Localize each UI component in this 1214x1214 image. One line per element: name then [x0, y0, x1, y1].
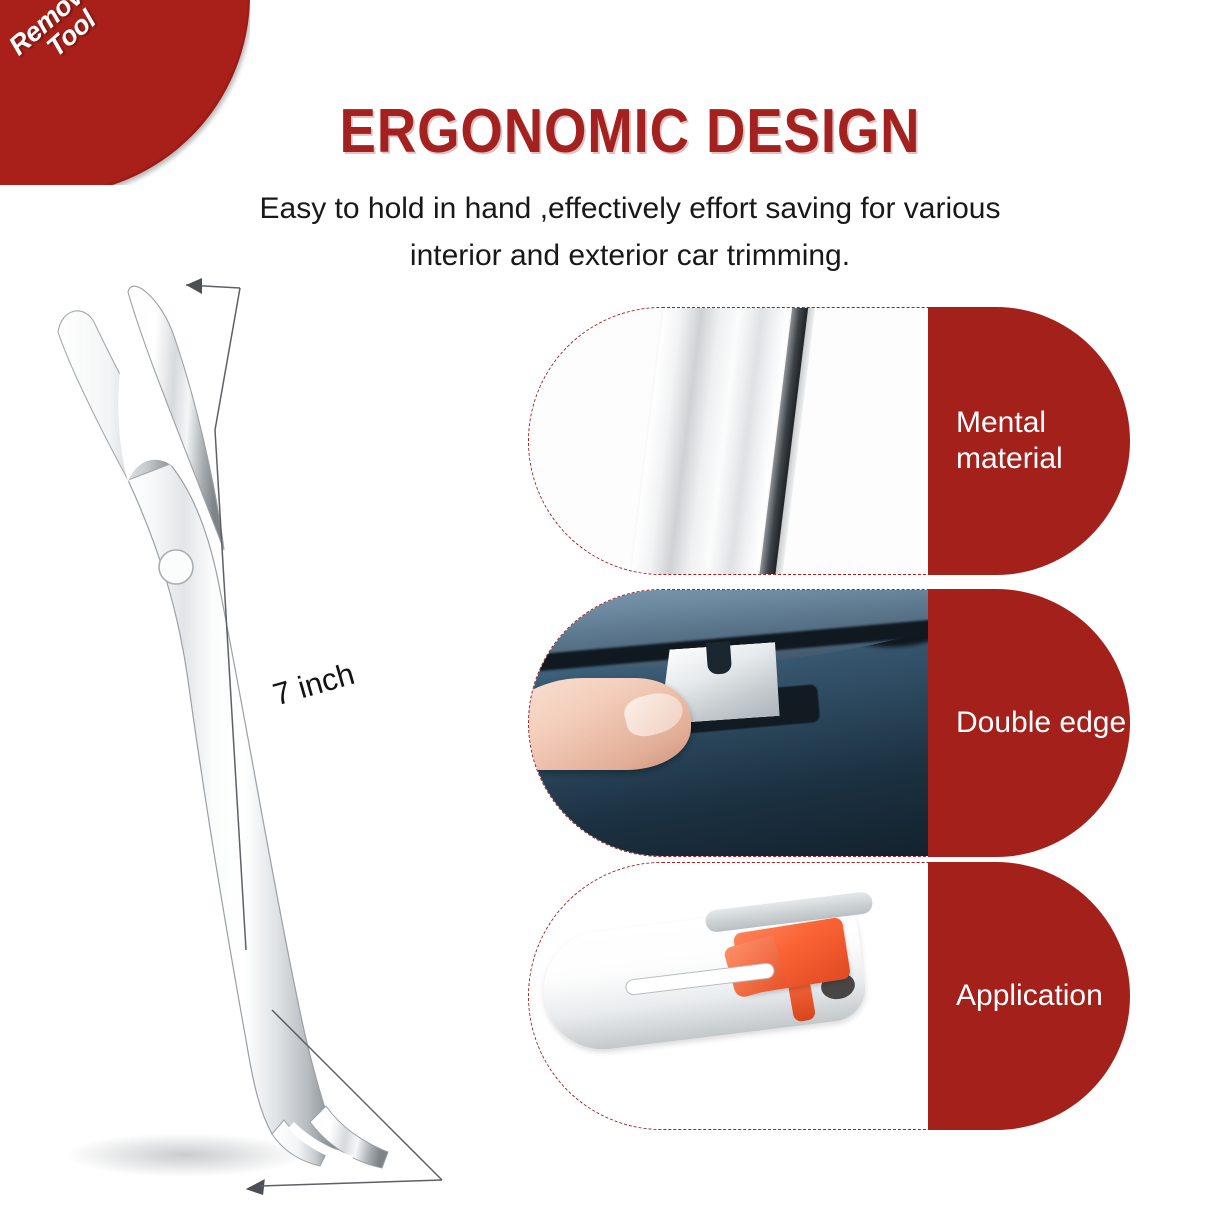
page-title: ERGONOMIC DESIGN	[234, 96, 1026, 167]
infographic-canvas: Removal Tool ERGONOMIC DESIGN Easy to ho…	[0, 0, 1214, 1214]
ribbon-line-2: Tool	[7, 0, 137, 93]
feature-pill-double-edge: Double edge	[928, 589, 1130, 857]
ribbon-shape-shadow	[0, 0, 250, 185]
feature-row-mental-material: Mental material	[528, 307, 1148, 575]
ribbon-line-1: Removal	[3, 0, 105, 61]
feature-photo-mental-material	[528, 307, 932, 575]
feature-photo-application	[528, 862, 932, 1130]
corner-ribbon: Removal Tool	[0, 0, 250, 185]
tool-illustration	[10, 250, 510, 1200]
feature-pill-mental-material: Mental material	[928, 307, 1130, 575]
subtitle-line-1: Easy to hold in hand ,effectively effort…	[160, 186, 1100, 233]
feature-row-application: Application	[528, 862, 1148, 1130]
feature-label-mental-material: Mental material	[928, 405, 1063, 477]
feature-photo-double-edge	[528, 589, 932, 857]
feature-label-double-edge: Double edge	[928, 705, 1126, 741]
ribbon-shape	[0, 0, 248, 185]
feature-label-application: Application	[928, 978, 1103, 1014]
ribbon-text: Removal Tool	[0, 0, 137, 93]
feature-pill-application: Application	[928, 862, 1130, 1130]
feature-row-double-edge: Double edge	[528, 589, 1148, 857]
